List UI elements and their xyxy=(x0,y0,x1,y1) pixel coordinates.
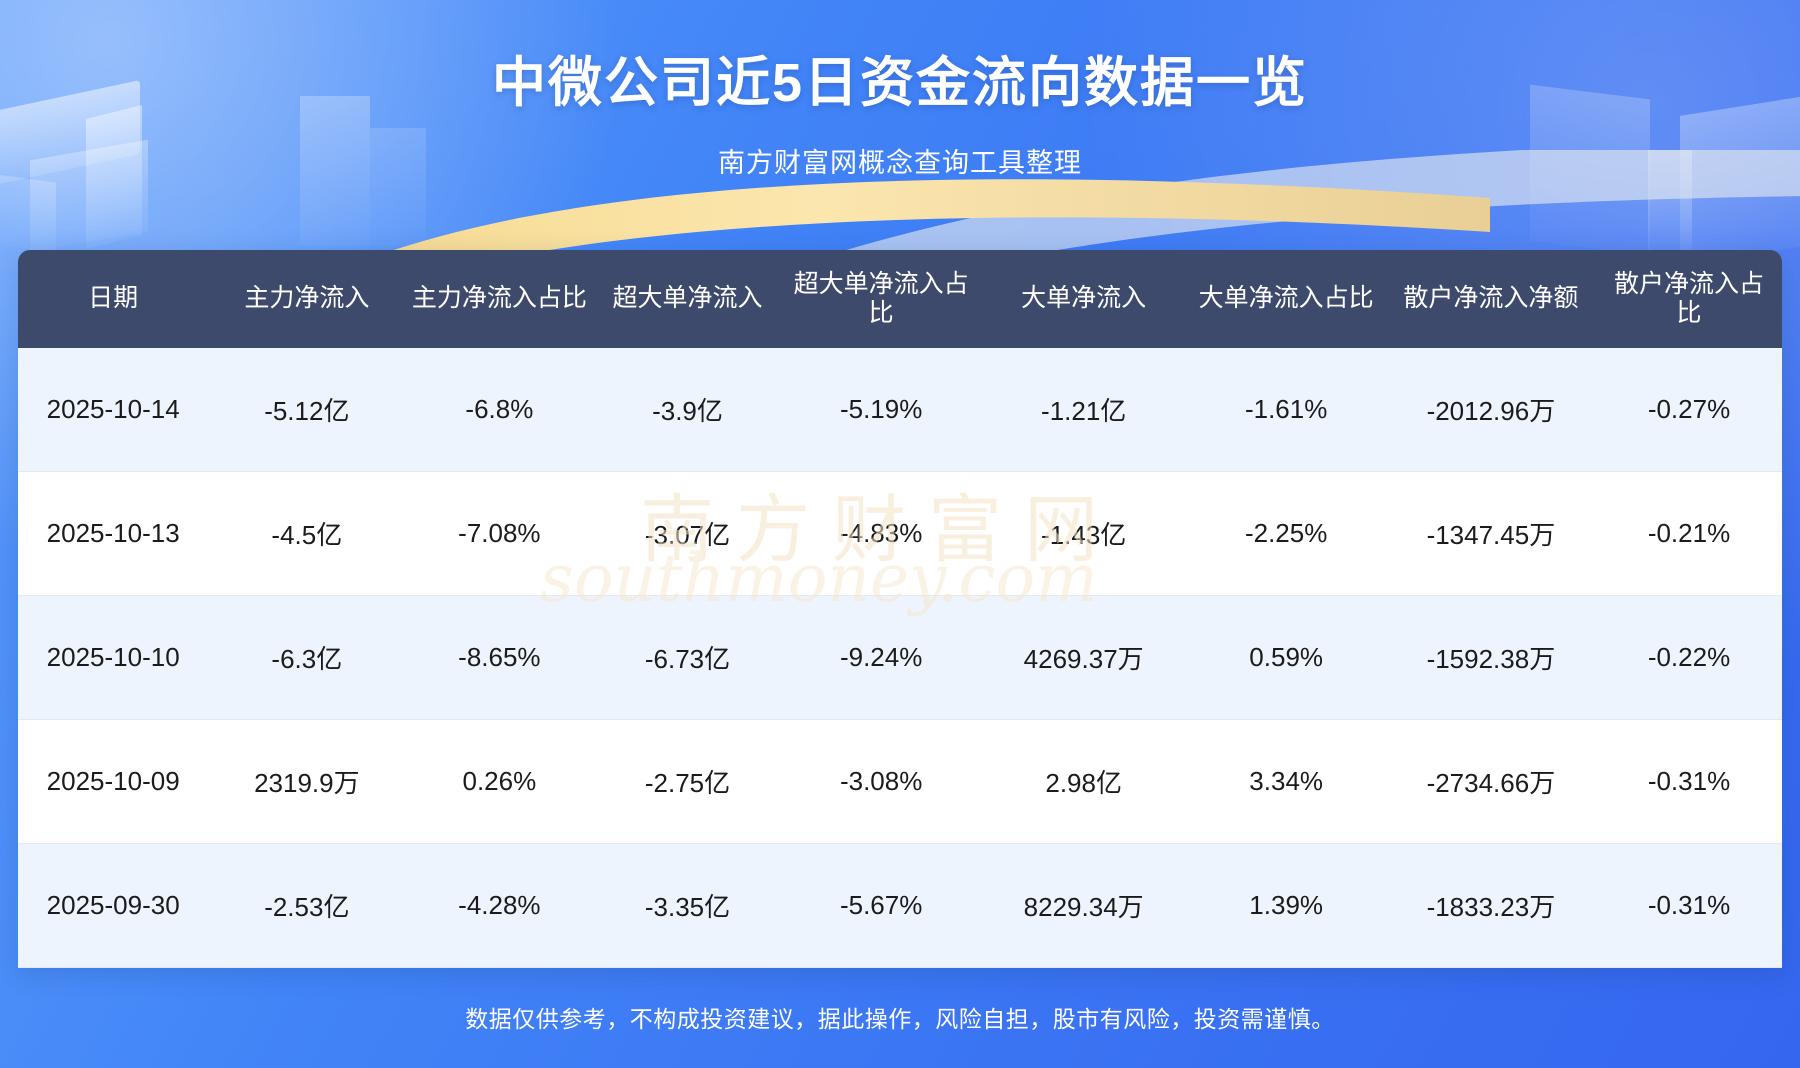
table-header-row: 日期 主力净流入 主力净流入占比 超大单净流入 超大单净流入占比 大单净流入 大… xyxy=(18,250,1782,348)
cell-retail-inflow-amount: -1833.23万 xyxy=(1386,844,1596,968)
cell-date: 2025-10-10 xyxy=(18,596,208,720)
column-header-large-inflow-pct: 大单净流入占比 xyxy=(1187,250,1386,348)
table-row: 2025-10-13 -4.5亿 -7.08% -3.07亿 -4.83% -1… xyxy=(18,472,1782,596)
cell-main-net-inflow: -5.12亿 xyxy=(208,348,405,472)
cell-retail-inflow-amount: -1347.45万 xyxy=(1386,472,1596,596)
cell-large-inflow: 4269.37万 xyxy=(981,596,1187,720)
fund-flow-table: 日期 主力净流入 主力净流入占比 超大单净流入 超大单净流入占比 大单净流入 大… xyxy=(18,250,1782,968)
column-header-super-large-inflow: 超大单净流入 xyxy=(593,250,781,348)
cell-retail-inflow-amount: -1592.38万 xyxy=(1386,596,1596,720)
table-row: 2025-10-09 2319.9万 0.26% -2.75亿 -3.08% 2… xyxy=(18,720,1782,844)
cell-large-inflow: -1.21亿 xyxy=(981,348,1187,472)
cell-large-inflow-pct: 3.34% xyxy=(1187,720,1386,844)
page-background: 中微公司近5日资金流向数据一览 南方财富网概念查询工具整理 南方财富网 sout… xyxy=(0,0,1800,1068)
page-subtitle: 南方财富网概念查询工具整理 xyxy=(0,141,1800,180)
cell-main-net-inflow-pct: -7.08% xyxy=(405,472,593,596)
cell-main-net-inflow-pct: 0.26% xyxy=(405,720,593,844)
cell-main-net-inflow: -6.3亿 xyxy=(208,596,405,720)
cell-main-net-inflow-pct: -8.65% xyxy=(405,596,593,720)
cell-super-large-inflow-pct: -5.19% xyxy=(782,348,981,472)
cell-large-inflow-pct: -1.61% xyxy=(1187,348,1386,472)
cell-main-net-inflow-pct: -4.28% xyxy=(405,844,593,968)
cell-super-large-inflow: -3.9亿 xyxy=(593,348,781,472)
cell-retail-inflow-amount: -2734.66万 xyxy=(1386,720,1596,844)
cell-super-large-inflow-pct: -9.24% xyxy=(782,596,981,720)
cell-large-inflow: 8229.34万 xyxy=(981,844,1187,968)
cell-retail-inflow-amount: -2012.96万 xyxy=(1386,348,1596,472)
table-row: 2025-10-14 -5.12亿 -6.8% -3.9亿 -5.19% -1.… xyxy=(18,348,1782,472)
cell-retail-inflow-pct: -0.22% xyxy=(1596,596,1782,720)
cell-retail-inflow-pct: -0.27% xyxy=(1596,348,1782,472)
table-row: 2025-10-10 -6.3亿 -8.65% -6.73亿 -9.24% 42… xyxy=(18,596,1782,720)
column-header-date: 日期 xyxy=(18,250,208,348)
cell-super-large-inflow: -6.73亿 xyxy=(593,596,781,720)
cell-main-net-inflow-pct: -6.8% xyxy=(405,348,593,472)
column-header-super-large-inflow-pct: 超大单净流入占比 xyxy=(782,250,981,348)
cell-date: 2025-10-13 xyxy=(18,472,208,596)
cell-date: 2025-10-09 xyxy=(18,720,208,844)
cell-retail-inflow-pct: -0.31% xyxy=(1596,844,1782,968)
table-body: 2025-10-14 -5.12亿 -6.8% -3.9亿 -5.19% -1.… xyxy=(18,348,1782,968)
disclaimer-text: 数据仅供参考，不构成投资建议，据此操作，风险自担，股市有风险，投资需谨慎。 xyxy=(0,1000,1800,1034)
cell-super-large-inflow-pct: -4.83% xyxy=(782,472,981,596)
column-header-retail-inflow-amount: 散户净流入净额 xyxy=(1386,250,1596,348)
cell-date: 2025-10-14 xyxy=(18,348,208,472)
column-header-main-net-inflow: 主力净流入 xyxy=(208,250,405,348)
table-row: 2025-09-30 -2.53亿 -4.28% -3.35亿 -5.67% 8… xyxy=(18,844,1782,968)
cell-super-large-inflow-pct: -5.67% xyxy=(782,844,981,968)
decor-shape-left-4 xyxy=(0,169,56,252)
cell-super-large-inflow-pct: -3.08% xyxy=(782,720,981,844)
cell-retail-inflow-pct: -0.21% xyxy=(1596,472,1782,596)
column-header-retail-inflow-pct: 散户净流入占比 xyxy=(1596,250,1782,348)
cell-large-inflow-pct: 1.39% xyxy=(1187,844,1386,968)
column-header-large-inflow: 大单净流入 xyxy=(981,250,1187,348)
cell-main-net-inflow: 2319.9万 xyxy=(208,720,405,844)
cell-large-inflow-pct: 0.59% xyxy=(1187,596,1386,720)
cell-large-inflow: 2.98亿 xyxy=(981,720,1187,844)
cell-super-large-inflow: -3.07亿 xyxy=(593,472,781,596)
cell-retail-inflow-pct: -0.31% xyxy=(1596,720,1782,844)
cell-date: 2025-09-30 xyxy=(18,844,208,968)
cell-super-large-inflow: -2.75亿 xyxy=(593,720,781,844)
cell-large-inflow-pct: -2.25% xyxy=(1187,472,1386,596)
cell-main-net-inflow: -4.5亿 xyxy=(208,472,405,596)
column-header-main-net-inflow-pct: 主力净流入占比 xyxy=(405,250,593,348)
page-title: 中微公司近5日资金流向数据一览 xyxy=(0,38,1800,117)
fund-flow-table-container: 日期 主力净流入 主力净流入占比 超大单净流入 超大单净流入占比 大单净流入 大… xyxy=(18,250,1782,968)
cell-main-net-inflow: -2.53亿 xyxy=(208,844,405,968)
cell-large-inflow: -1.43亿 xyxy=(981,472,1187,596)
cell-super-large-inflow: -3.35亿 xyxy=(593,844,781,968)
